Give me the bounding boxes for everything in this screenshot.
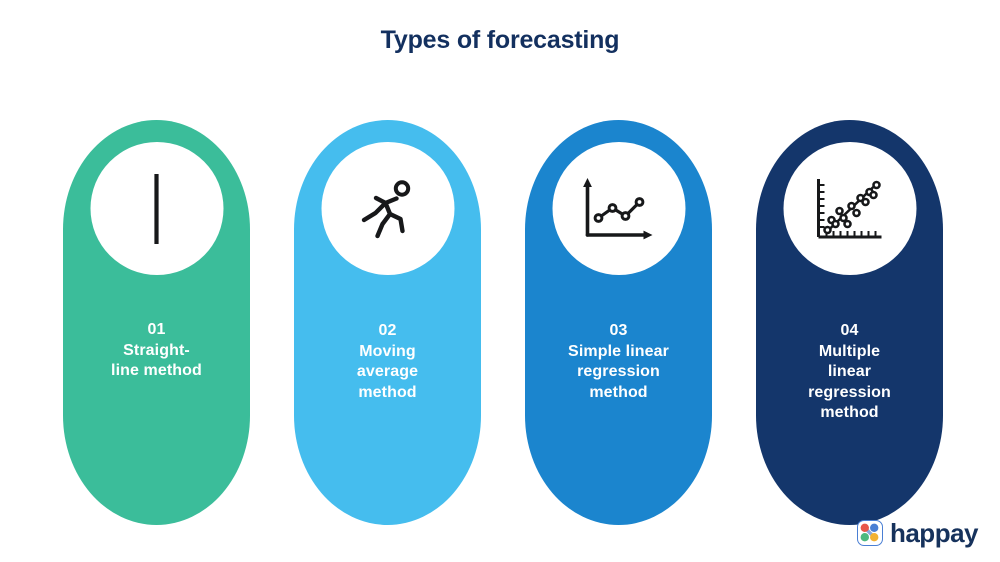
card-number: 03 <box>531 321 706 342</box>
card-text: 03 Simple linear regression method <box>531 321 706 403</box>
card-label: Straight- line method <box>69 341 244 382</box>
card-moving-average-method[interactable]: 02 Moving average method <box>294 120 481 525</box>
forecasting-types-group: 01 Straight- line method 02 Movin <box>63 120 943 525</box>
card-icon-circle <box>90 142 223 275</box>
scatter-plot-icon <box>810 173 890 245</box>
line-chart-icon <box>580 173 658 245</box>
card-multiple-linear-regression-method[interactable]: 04 Multiple linear regression method <box>756 120 943 525</box>
running-person-icon <box>356 176 420 242</box>
brand-name: happay <box>890 520 978 546</box>
card-icon-circle <box>321 142 454 275</box>
card-label: Multiple linear regression method <box>762 342 937 424</box>
card-straight-line-method[interactable]: 01 Straight- line method <box>63 120 250 525</box>
vertical-line-icon <box>122 172 192 246</box>
card-number: 04 <box>762 321 937 342</box>
card-simple-linear-regression-method[interactable]: 03 Simple linear regression method <box>525 120 712 525</box>
card-label: Simple linear regression method <box>531 342 706 404</box>
card-icon-circle <box>552 142 685 275</box>
card-text: 01 Straight- line method <box>69 320 244 382</box>
card-number: 02 <box>300 321 475 342</box>
happay-logo-icon <box>857 520 883 546</box>
page-title: Types of forecasting <box>0 26 1000 55</box>
card-text: 04 Multiple linear regression method <box>762 321 937 424</box>
card-icon-circle <box>783 142 916 275</box>
card-number: 01 <box>69 320 244 341</box>
brand-logo[interactable]: happay <box>857 520 978 546</box>
card-label: Moving average method <box>300 342 475 404</box>
card-text: 02 Moving average method <box>300 321 475 403</box>
